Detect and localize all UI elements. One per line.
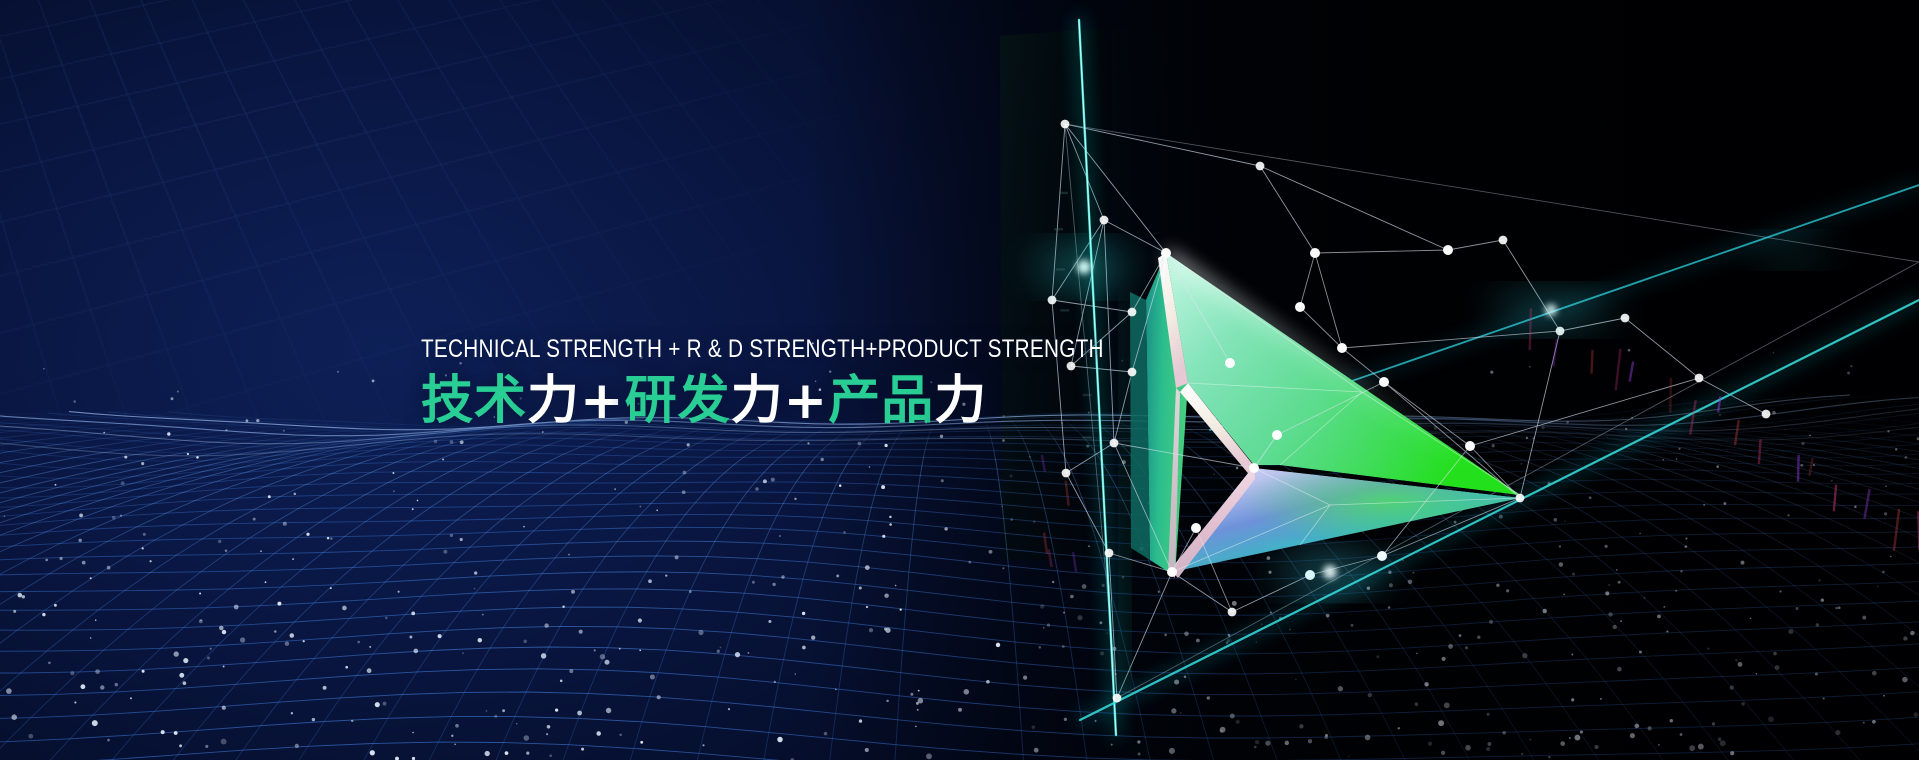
accent-ticks	[1042, 193, 1919, 572]
arrow-top-face	[1166, 253, 1520, 495]
lens-flares	[1038, 242, 1830, 584]
arrow-3d	[1130, 248, 1523, 590]
wireframe-nodes	[1048, 120, 1771, 703]
headline-segment-2: +	[580, 371, 625, 431]
headline-segment-5: +	[784, 371, 829, 431]
arrow-bottom-face-glow-blue	[1170, 468, 1520, 572]
wireframe-network	[1052, 124, 1919, 698]
arrow-bottom-face	[1170, 468, 1520, 572]
headline-segment-4: 力	[731, 371, 784, 431]
headline-chinese: 技术力+研发力+产品力	[421, 371, 1041, 431]
headline-segment-0: 技术	[421, 371, 527, 431]
arrow-facet-lines	[1166, 253, 1520, 572]
arrow-bevel-notch	[1180, 383, 1254, 478]
beam-group	[1079, 20, 1919, 735]
headline-segment-1: 力	[527, 371, 580, 431]
arrow-bevel-top	[1158, 253, 1188, 388]
arrow-left-spine	[1146, 253, 1188, 576]
arrow-bottom-face-glow-green	[1170, 468, 1520, 572]
headline-segment-3: 研发	[625, 371, 731, 431]
arrow-top-face-greenwash	[1166, 253, 1520, 495]
wireframe-overlay	[1109, 240, 1560, 612]
arrow-bevel-spine	[1168, 388, 1180, 578]
arrow-top-edge-glow	[1166, 248, 1523, 500]
headline-segment-6: 产品	[828, 371, 934, 431]
arrow-lower-wing-glow	[1172, 468, 1520, 572]
hero-text-block: TECHNICAL STRENGTH + R & D STRENGTH+PROD…	[421, 334, 1041, 431]
headline-segment-7: 力	[934, 371, 987, 431]
arrow-left-spine-shade	[1130, 292, 1150, 560]
tagline-english: TECHNICAL STRENGTH + R & D STRENGTH+PROD…	[421, 334, 936, 364]
arrow-lower-wing	[1172, 468, 1520, 572]
hero-banner: TECHNICAL STRENGTH + R & D STRENGTH+PROD…	[0, 0, 1919, 760]
arrow-bevel-bottom	[1170, 466, 1255, 578]
